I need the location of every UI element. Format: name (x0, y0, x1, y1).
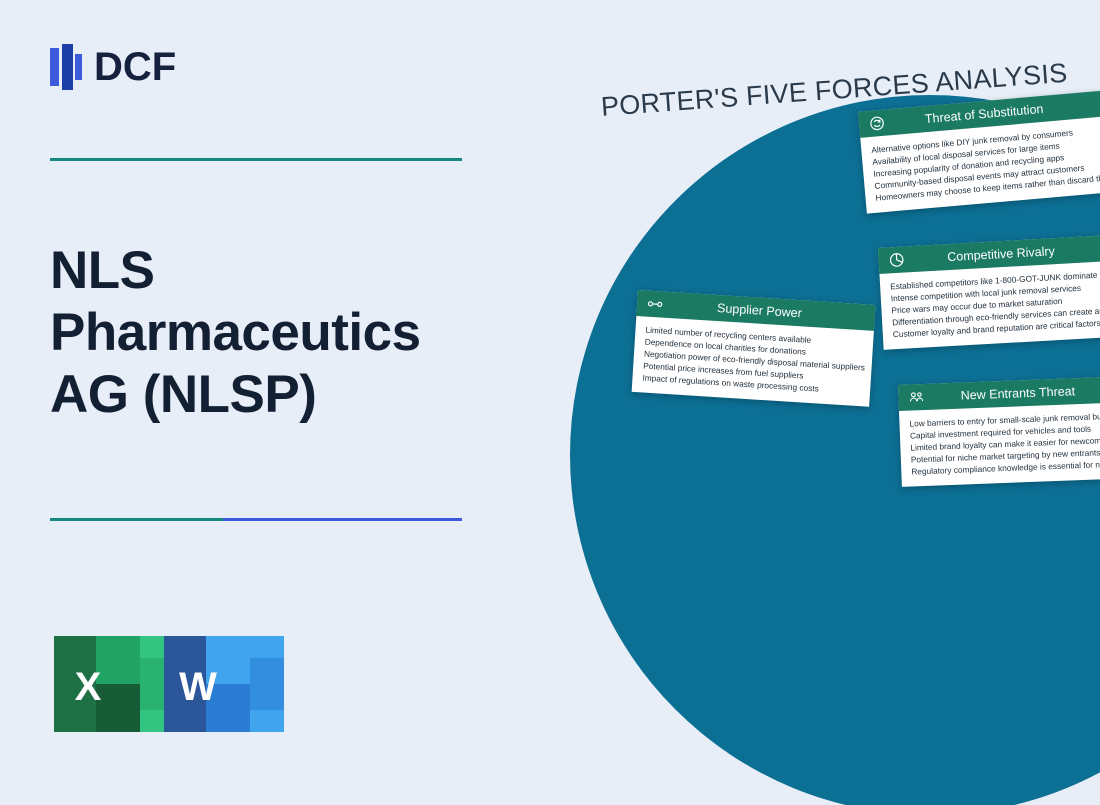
right-panel: PORTER'S FIVE FORCES ANALYSIS Threat of … (520, 0, 1100, 805)
card-supplier-power[interactable]: Supplier Power Limited number of recycli… (632, 290, 876, 407)
word-file-icon[interactable]: W (160, 628, 288, 740)
card-new-entrants-threat[interactable]: New Entrants Threat Low barriers to entr… (898, 376, 1100, 487)
page-root: DCF NLS Pharmaceutics AG (NLSP) X (0, 0, 1100, 805)
svg-text:W: W (179, 665, 217, 709)
file-icon-group: X W (50, 628, 288, 740)
card-body: Limited number of recycling centers avai… (632, 316, 874, 407)
divider-top (50, 158, 462, 161)
card-competitive-rivalry[interactable]: Competitive Rivalry Established competit… (878, 235, 1100, 350)
pie-chart-icon (888, 252, 905, 269)
page-title: NLS Pharmaceutics AG (NLSP) (50, 240, 480, 426)
card-body: Low barriers to entry for small-scale ju… (899, 402, 1100, 487)
card-body: Established competitors like 1-800-GOT-J… (879, 261, 1100, 350)
brand-logo[interactable]: DCF (50, 44, 176, 90)
left-panel: DCF NLS Pharmaceutics AG (NLSP) X (0, 0, 520, 805)
divider-bottom (50, 518, 462, 521)
dcf-bars-logo-icon (50, 44, 84, 90)
people-group-icon (908, 389, 925, 406)
refresh-circle-icon (868, 115, 885, 132)
svg-text:X: X (75, 665, 102, 709)
excel-file-icon[interactable]: X (50, 628, 178, 740)
handshake-link-icon (647, 296, 664, 313)
card-threat-of-substitution[interactable]: Threat of Substitution Alternative optio… (858, 91, 1100, 214)
brand-name: DCF (94, 45, 176, 90)
card-title: New Entrants Threat (931, 382, 1100, 403)
